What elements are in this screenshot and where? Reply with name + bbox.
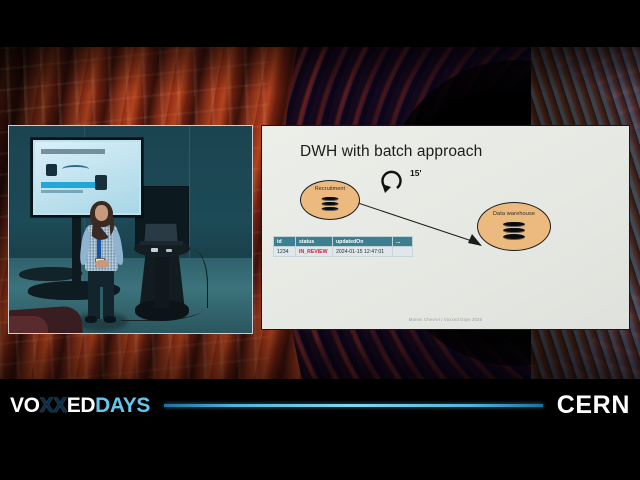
table-row: 1234 IN_REVIEW 2024-01-15 12:47:01 bbox=[274, 247, 413, 257]
presenter-leg-gap bbox=[100, 287, 103, 318]
screen-table-row bbox=[41, 190, 83, 193]
table-header-row: id status updatedOn ... bbox=[274, 237, 413, 247]
slide-footer: Manon Chevrel / Voxxed Days 2025 bbox=[262, 317, 629, 322]
audience-seats-2 bbox=[8, 316, 48, 334]
voxxed-days-logo: VOXXEDDAYS bbox=[10, 395, 150, 416]
slide-panel: DWH with batch approach 15' Recruitment … bbox=[261, 125, 630, 330]
database-icon bbox=[322, 197, 339, 211]
database-icon bbox=[503, 222, 525, 241]
cell-more bbox=[393, 247, 413, 257]
node-recruitment: Recruitment bbox=[300, 180, 360, 220]
table-object-2 bbox=[166, 249, 172, 252]
table-col-status: status bbox=[296, 237, 333, 247]
branding-divider-line bbox=[164, 404, 543, 407]
presenter-face bbox=[95, 205, 108, 220]
table-col-more: ... bbox=[393, 237, 413, 247]
stage-presentation-screen bbox=[31, 138, 143, 217]
logo-xx: XX bbox=[40, 394, 67, 417]
screen-database-icon-2 bbox=[95, 175, 107, 191]
screen-content bbox=[35, 142, 139, 213]
cell-id: 1234 bbox=[274, 247, 296, 257]
speaker-camera-panel bbox=[8, 125, 253, 334]
screen-slide-title bbox=[41, 149, 105, 154]
presenter-shoe-right bbox=[104, 316, 116, 322]
status-badge: IN_REVIEW bbox=[296, 247, 333, 257]
letterbox-top bbox=[0, 0, 640, 47]
circular-arrow-icon bbox=[380, 168, 406, 194]
node-recruitment-label: Recruitment bbox=[301, 186, 359, 192]
cell-updated-on: 2024-01-15 12:47:01 bbox=[333, 247, 393, 257]
laptop-base bbox=[140, 241, 183, 246]
slide-title: DWH with batch approach bbox=[300, 143, 482, 161]
logo-vo: VO bbox=[10, 394, 40, 417]
branding-bar: VOXXEDDAYS CERN bbox=[0, 388, 640, 422]
venue-name: CERN bbox=[557, 393, 630, 418]
presenter-shoe-left bbox=[85, 316, 97, 322]
table-col-updated-on: updatedOn bbox=[333, 237, 393, 247]
loop-interval-label: 15' bbox=[410, 168, 421, 178]
table-object bbox=[151, 248, 158, 252]
logo-days: DAYS bbox=[95, 394, 150, 417]
presenter-hands bbox=[95, 260, 109, 268]
screen-arrow-icon bbox=[62, 165, 89, 173]
stream-frame: DWH with batch approach 15' Recruitment … bbox=[0, 0, 640, 480]
logo-ed: ED bbox=[67, 394, 95, 417]
cocktail-table-stem bbox=[155, 252, 170, 308]
slide-data-table: id status updatedOn ... 1234 IN_REVIEW 2… bbox=[273, 236, 413, 257]
node-data-warehouse-label: Data warehouse bbox=[478, 211, 550, 217]
screen-database-icon bbox=[46, 164, 56, 177]
table-col-id: id bbox=[274, 237, 296, 247]
node-data-warehouse: Data warehouse bbox=[477, 202, 551, 251]
screen-table-header bbox=[41, 182, 95, 188]
